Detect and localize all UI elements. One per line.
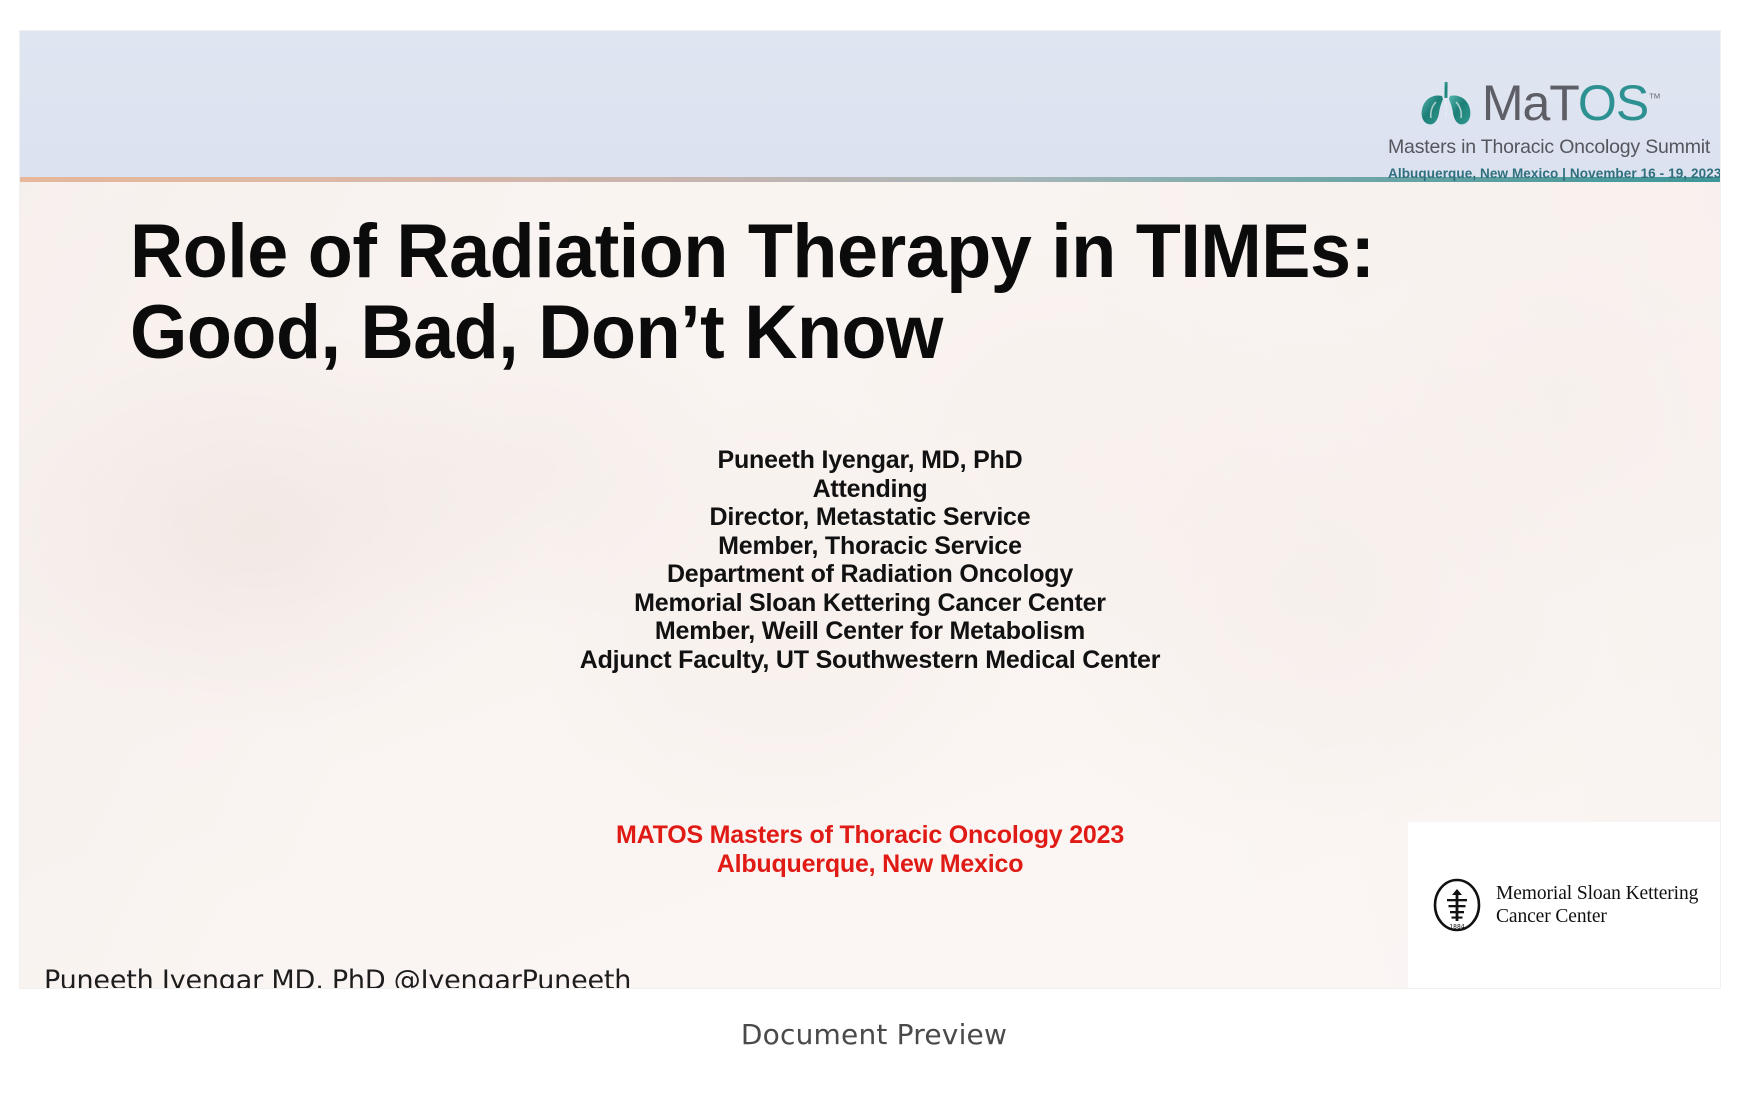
matos-logo: MaTOS™ Masters in Thoracic Oncology Summ… [1388, 75, 1688, 181]
author-block: Puneeth Iyengar, MD, PhD Attending Direc… [20, 446, 1720, 674]
presenter-handle: Puneeth Iyengar MD, PhD @IyengarPuneeth [44, 965, 631, 988]
matos-wordmark-part1: MaT [1482, 75, 1578, 131]
document-preview-caption: Document Preview [0, 1018, 1748, 1051]
msk-tree-seal-icon: 1884 [1430, 878, 1484, 932]
msk-seal-year: 1884 [1449, 924, 1464, 931]
author-department: Department of Radiation Oncology [20, 560, 1720, 589]
author-institution: Memorial Sloan Kettering Cancer Center [20, 589, 1720, 618]
presentation-slide[interactable]: MaTOS™ Masters in Thoracic Oncology Summ… [20, 31, 1720, 988]
slide-title-line-2: Good, Bad, Don’t Know [130, 292, 1585, 373]
document-preview-page: MaTOS™ Masters in Thoracic Oncology Summ… [0, 0, 1748, 1108]
author-role: Attending [20, 475, 1720, 504]
author-affiliation-2: Adjunct Faculty, UT Southwestern Medical… [20, 646, 1720, 675]
matos-wordmark: MaTOS™ [1482, 78, 1660, 128]
author-title-1: Director, Metastatic Service [20, 503, 1720, 532]
author-title-2: Member, Thoracic Service [20, 532, 1720, 561]
lungs-icon [1416, 78, 1476, 128]
author-affiliation-1: Member, Weill Center for Metabolism [20, 617, 1720, 646]
matos-tagline: Masters in Thoracic Oncology Summit [1388, 136, 1688, 159]
msk-logo-line-1: Memorial Sloan Kettering [1496, 882, 1698, 905]
matos-logo-top-row: MaTOS™ [1388, 75, 1688, 131]
slide-title-line-1: Role of Radiation Therapy in TIMEs: [130, 211, 1585, 292]
msk-logo-line-2: Cancer Center [1496, 905, 1698, 928]
trademark-symbol: ™ [1648, 90, 1660, 105]
msk-logo-wordmark: Memorial Sloan Kettering Cancer Center [1496, 882, 1698, 928]
author-name: Puneeth Iyengar, MD, PhD [20, 446, 1720, 475]
matos-wordmark-part2: OS [1578, 75, 1648, 131]
matos-location-date: Albuquerque, New Mexico | November 16 - … [1388, 166, 1688, 181]
msk-logo-panel: 1884 Memorial Sloan Kettering Cancer Cen… [1408, 822, 1720, 988]
slide-title: Role of Radiation Therapy in TIMEs: Good… [130, 211, 1585, 374]
